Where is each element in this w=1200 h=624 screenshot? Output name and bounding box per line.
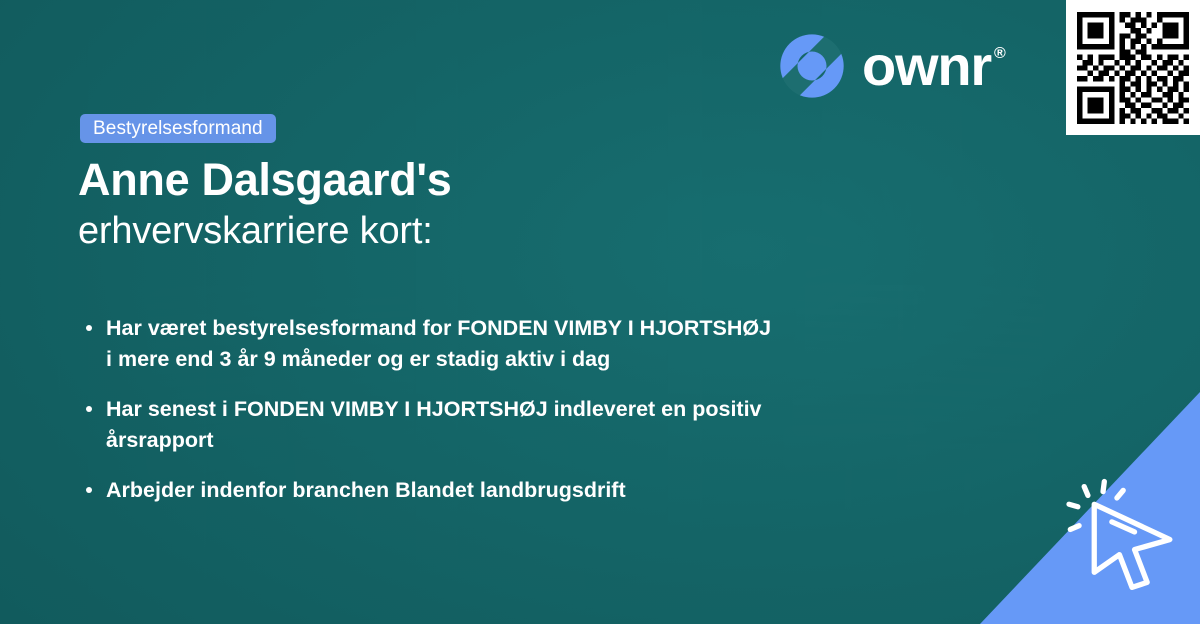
fact-line-1: Arbejder indenfor branchen Blandet landb… — [106, 478, 626, 502]
qr-code-icon[interactable] — [1077, 12, 1189, 124]
ownr-wordmark: ownr ® — [862, 42, 1005, 89]
fact-line-2: i mere end 3 år 9 måneder og er stadig a… — [106, 344, 930, 375]
career-facts-list: Har været bestyrelsesformand for FONDEN … — [80, 313, 960, 506]
subtitle: erhvervskarriere kort: — [78, 209, 838, 255]
career-card: Bestyrelsesformand Anne Dalsgaard's erhv… — [0, 0, 1200, 624]
list-item: Arbejder indenfor branchen Blandet landb… — [80, 475, 930, 506]
bullet-dot — [86, 325, 92, 331]
bullet-dot — [86, 406, 92, 412]
fact-line-1: Har senest i FONDEN VIMBY I HJORTSHØJ in… — [106, 397, 762, 421]
person-name: Anne Dalsgaard's — [78, 155, 838, 205]
list-item: Har været bestyrelsesformand for FONDEN … — [80, 313, 930, 374]
ownr-swirl-logo-icon — [779, 33, 845, 99]
card-content: Bestyrelsesformand Anne Dalsgaard's erhv… — [0, 0, 1200, 624]
role-badge: Bestyrelsesformand — [80, 114, 276, 143]
list-item: Har senest i FONDEN VIMBY I HJORTSHØJ in… — [80, 394, 930, 455]
role-badge-label: Bestyrelsesformand — [93, 118, 263, 140]
ownr-logo[interactable]: ownr ® — [779, 33, 1005, 99]
page-title: Anne Dalsgaard's erhvervskarriere kort: — [78, 155, 838, 255]
click-cursor-icon — [1064, 474, 1190, 600]
fact-line-2: årsrapport — [106, 425, 930, 456]
ownr-wordmark-text: ownr — [862, 42, 991, 89]
fact-line-1: Har været bestyrelsesformand for FONDEN … — [106, 316, 771, 340]
registered-trademark-icon: ® — [994, 46, 1005, 62]
qr-code-panel[interactable] — [1066, 0, 1200, 135]
bullet-dot — [86, 487, 92, 493]
